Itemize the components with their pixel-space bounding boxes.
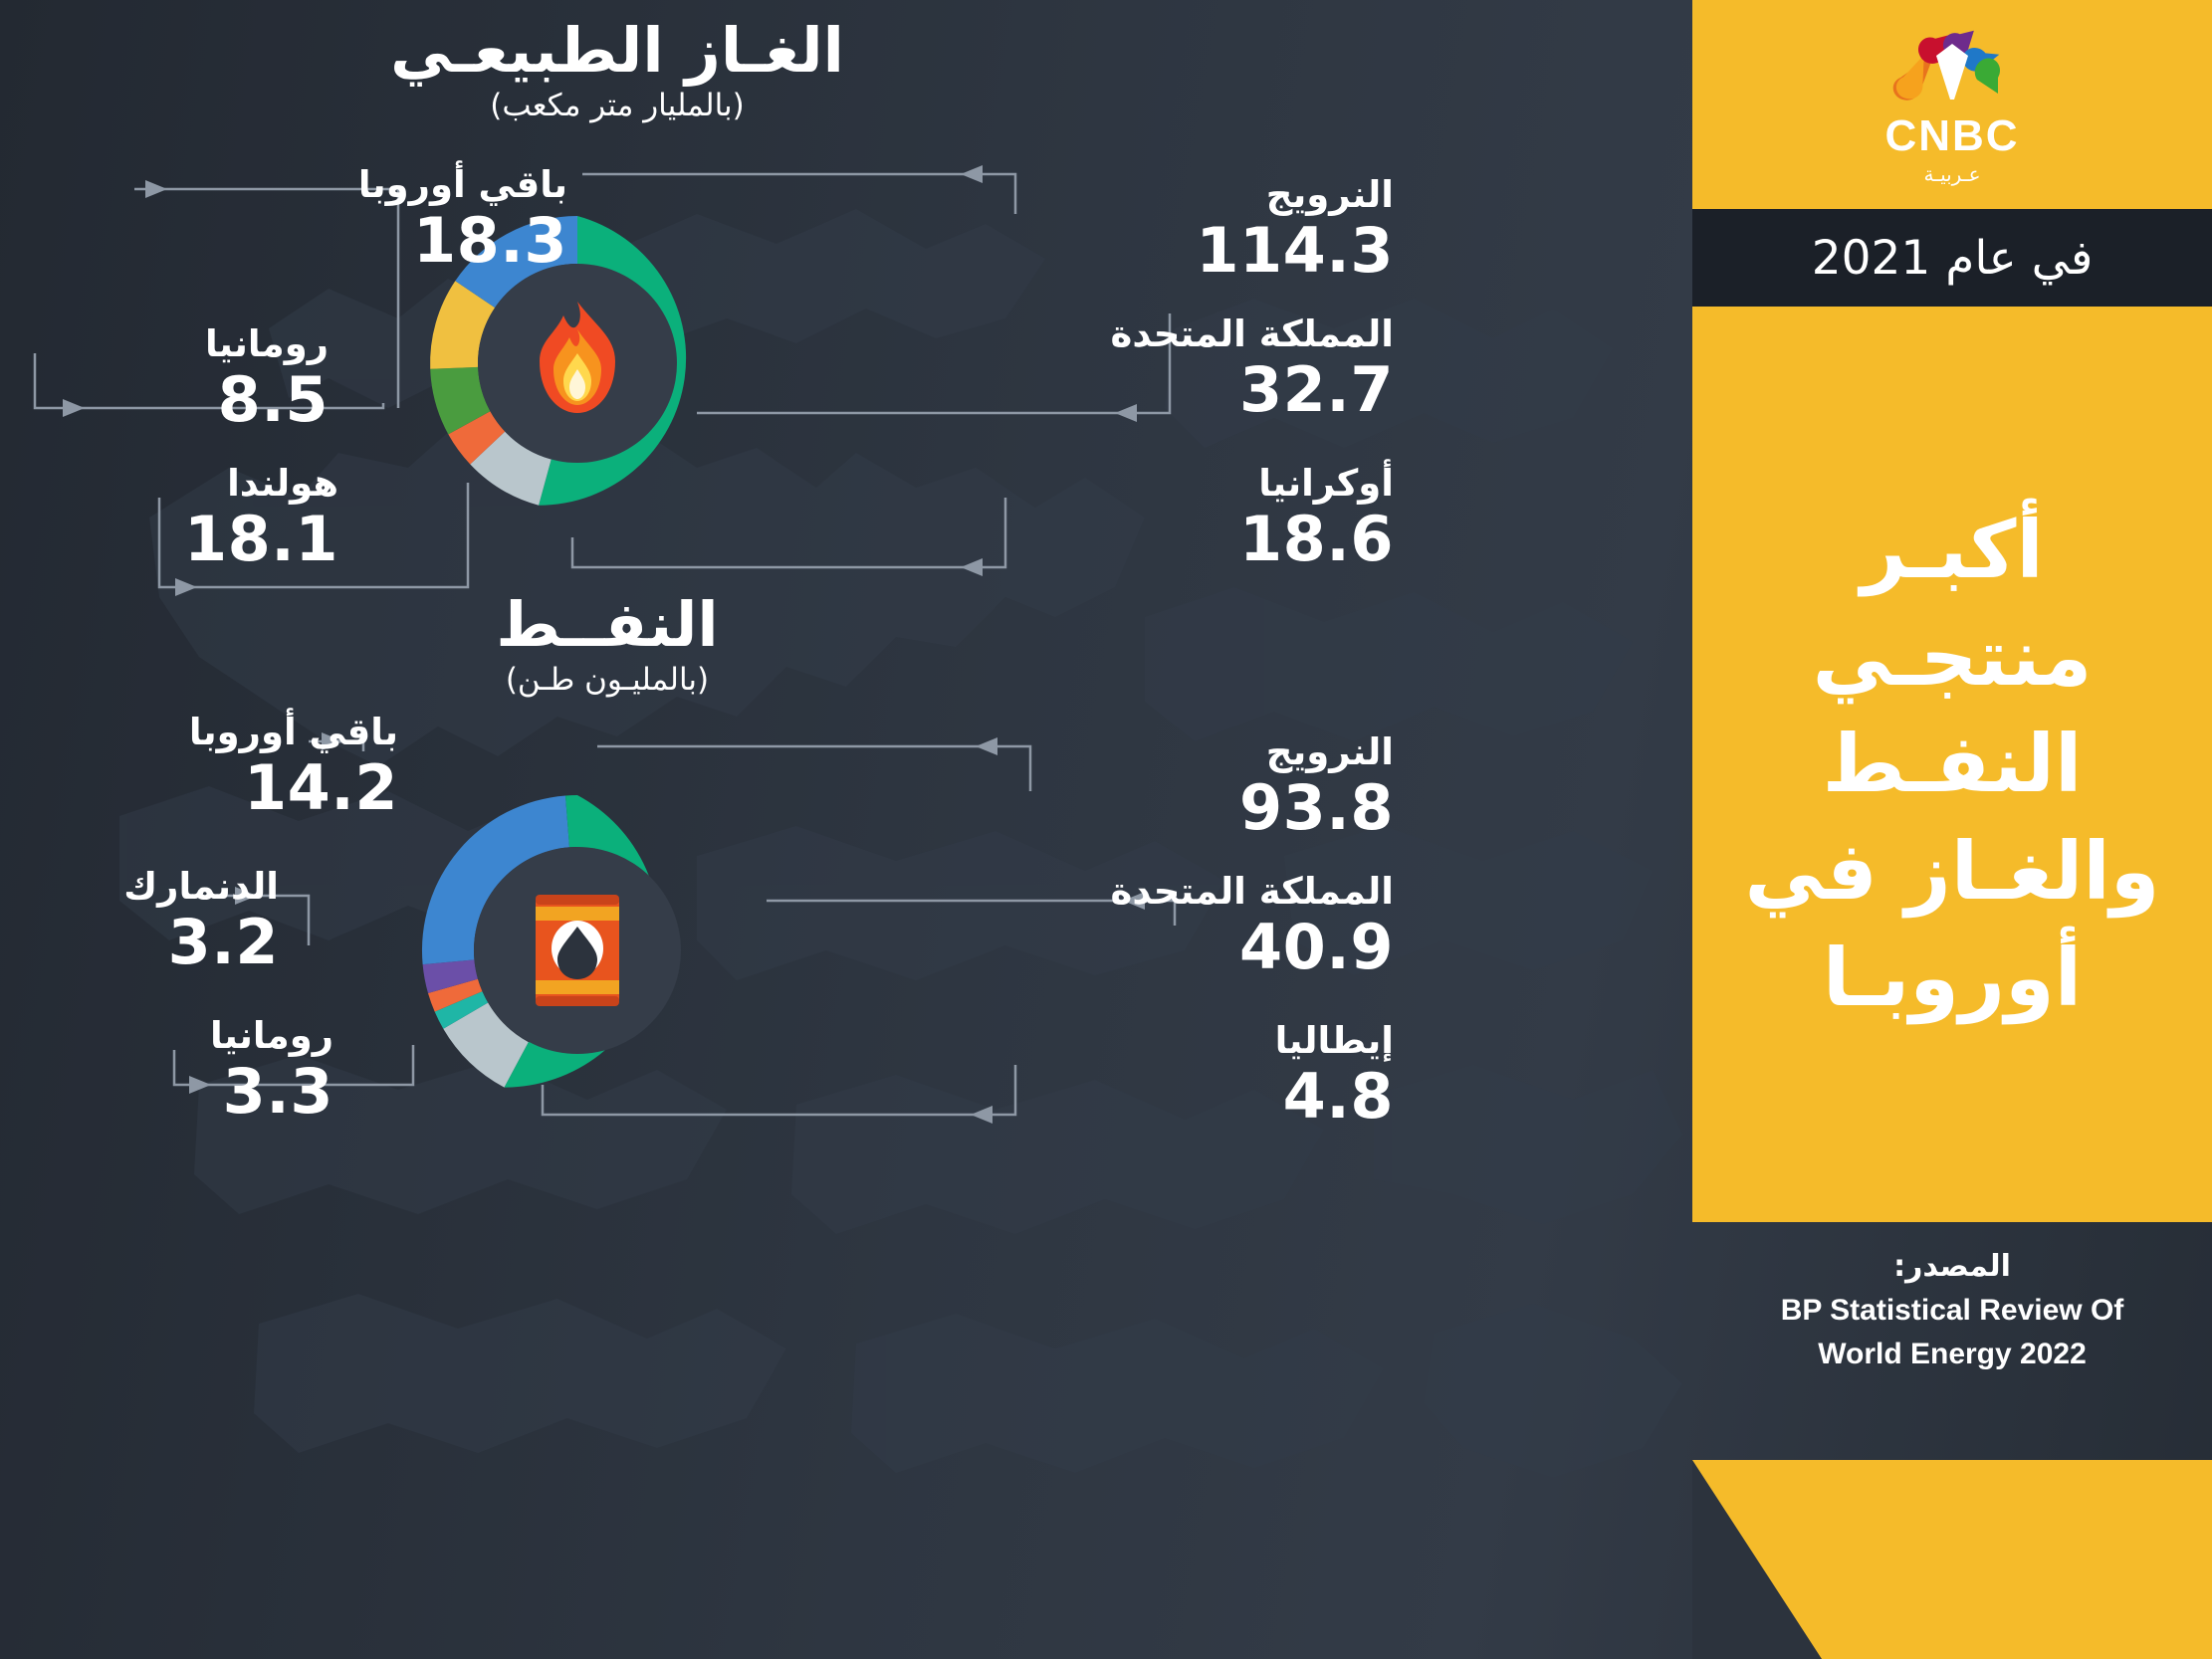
headline-line-1: أكبـر bbox=[1861, 502, 2044, 599]
oil-callout-denmark-label: الدنمارك bbox=[40, 866, 279, 909]
year-label: في عام 2021 bbox=[1812, 231, 2094, 286]
cnbc-logo-block: CNBC عـربيـة bbox=[1692, 22, 2212, 186]
oil-callout-denmark-value: 3.2 bbox=[40, 909, 279, 976]
source-label: المصدر: bbox=[1692, 1244, 2212, 1289]
gas-callout-norway-value: 114.3 bbox=[1055, 217, 1394, 285]
gas-callout-romania-label: رومانيا bbox=[30, 323, 329, 366]
oil-subtitle-text: (بالمليـون طـن) bbox=[329, 657, 886, 704]
year-band: في عام 2021 bbox=[1692, 209, 2212, 307]
headline-line-5: أوروبـا bbox=[1823, 930, 2082, 1027]
charts-area: الغـاز الطبيعـي (بالمليار متر مكعب) bbox=[0, 0, 1692, 1659]
oil-callout-denmark: الدنمارك 3.2 bbox=[40, 866, 279, 976]
gas-callout-uk-value: 32.7 bbox=[1005, 356, 1394, 424]
oil-donut-chart bbox=[383, 756, 772, 1144]
oil-callout-italy-label: إيطاليا bbox=[1055, 1020, 1394, 1063]
gas-callout-netherlands-value: 18.1 bbox=[60, 506, 338, 573]
arrow-head bbox=[961, 558, 983, 576]
cnbc-arabic-subtitle: عـربيـة bbox=[1692, 162, 2212, 186]
gas-callout-rest-of-europe: باقي أوروبا 18.3 bbox=[119, 164, 567, 275]
oil-callout-norway-value: 93.8 bbox=[1065, 774, 1394, 842]
gas-callout-romania-value: 8.5 bbox=[30, 366, 329, 434]
oil-callout-uk-value: 40.9 bbox=[1005, 914, 1394, 981]
gas-callout-ukraine-label: أوكرانيا bbox=[1045, 463, 1394, 506]
gas-callout-uk-label: المملكة المتحدة bbox=[1005, 313, 1394, 356]
gas-callout-uk: المملكة المتحدة 32.7 bbox=[1005, 313, 1394, 424]
oil-callout-italy: إيطاليا 4.8 bbox=[1055, 1020, 1394, 1131]
gas-callout-rest-of-europe-value: 18.3 bbox=[119, 207, 567, 275]
oil-callout-norway-label: النرويج bbox=[1065, 731, 1394, 774]
headline-line-2: منتجـي bbox=[1813, 609, 2093, 707]
gas-callout-rest-of-europe-label: باقي أوروبا bbox=[119, 164, 567, 207]
oil-callout-romania-label: رومانيا bbox=[45, 1015, 333, 1058]
gas-callout-romania: رومانيا 8.5 bbox=[30, 323, 329, 434]
oil-callout-norway: النرويج 93.8 bbox=[1065, 731, 1394, 842]
oil-barrel-icon bbox=[536, 895, 619, 1006]
gas-callout-ukraine: أوكرانيا 18.6 bbox=[1045, 463, 1394, 573]
headline-line-3: النفـط bbox=[1823, 716, 2083, 813]
source-line-1: BP Statistical Review Of bbox=[1692, 1289, 2212, 1333]
arrow-head bbox=[175, 578, 197, 596]
gas-callout-netherlands-label: هولندا bbox=[60, 463, 338, 506]
gas-subtitle-text: (بالمليار متر مكعب) bbox=[269, 83, 966, 129]
oil-callout-rest-of-europe-label: باقي أوروبا bbox=[100, 712, 398, 754]
oil-section-title: النفــط (بالمليـون طـن) bbox=[329, 592, 886, 704]
gas-title-text: الغـاز الطبيعـي bbox=[269, 18, 966, 83]
gas-callout-ukraine-value: 18.6 bbox=[1045, 506, 1394, 573]
headline-lines: أكبـر منتجـي النفـط والغـاز في أوروبـا bbox=[1692, 307, 2212, 1222]
gas-section-title: الغـاز الطبيعـي (بالمليار متر مكعب) bbox=[269, 18, 966, 129]
cnbc-peacock-logo bbox=[1878, 22, 2027, 116]
oil-callout-rest-of-europe-value: 14.2 bbox=[100, 754, 398, 822]
gas-callout-norway-label: النرويج bbox=[1055, 174, 1394, 217]
oil-callout-uk: المملكة المتحدة 40.9 bbox=[1005, 871, 1394, 981]
arrow-head bbox=[961, 165, 983, 183]
oil-callout-romania-value: 3.3 bbox=[45, 1058, 333, 1126]
arrow-head bbox=[976, 737, 997, 755]
gas-callout-norway: النرويج 114.3 bbox=[1055, 174, 1394, 285]
headline-panel: أكبـر منتجـي النفـط والغـاز في أوروبـا bbox=[1692, 307, 2212, 1222]
headline-line-4: والغـاز في bbox=[1745, 823, 2160, 921]
oil-callout-rest-of-europe: باقي أوروبا 14.2 bbox=[100, 712, 398, 822]
oil-title-text: النفــط bbox=[329, 592, 886, 657]
gas-callout-netherlands: هولندا 18.1 bbox=[60, 463, 338, 573]
source-block: المصدر: BP Statistical Review Of World E… bbox=[1692, 1244, 2212, 1375]
oil-callout-uk-label: المملكة المتحدة bbox=[1005, 871, 1394, 914]
arrow-head bbox=[971, 1106, 993, 1124]
source-line-2: World Energy 2022 bbox=[1692, 1333, 2212, 1376]
oil-callout-romania: رومانيا 3.3 bbox=[45, 1015, 333, 1126]
cnbc-wordmark: CNBC bbox=[1692, 114, 2212, 158]
oil-callout-italy-value: 4.8 bbox=[1055, 1063, 1394, 1131]
right-sidebar: CNBC عـربيـة في عام 2021 أكبـر منتجـي ال… bbox=[1692, 0, 2212, 1659]
